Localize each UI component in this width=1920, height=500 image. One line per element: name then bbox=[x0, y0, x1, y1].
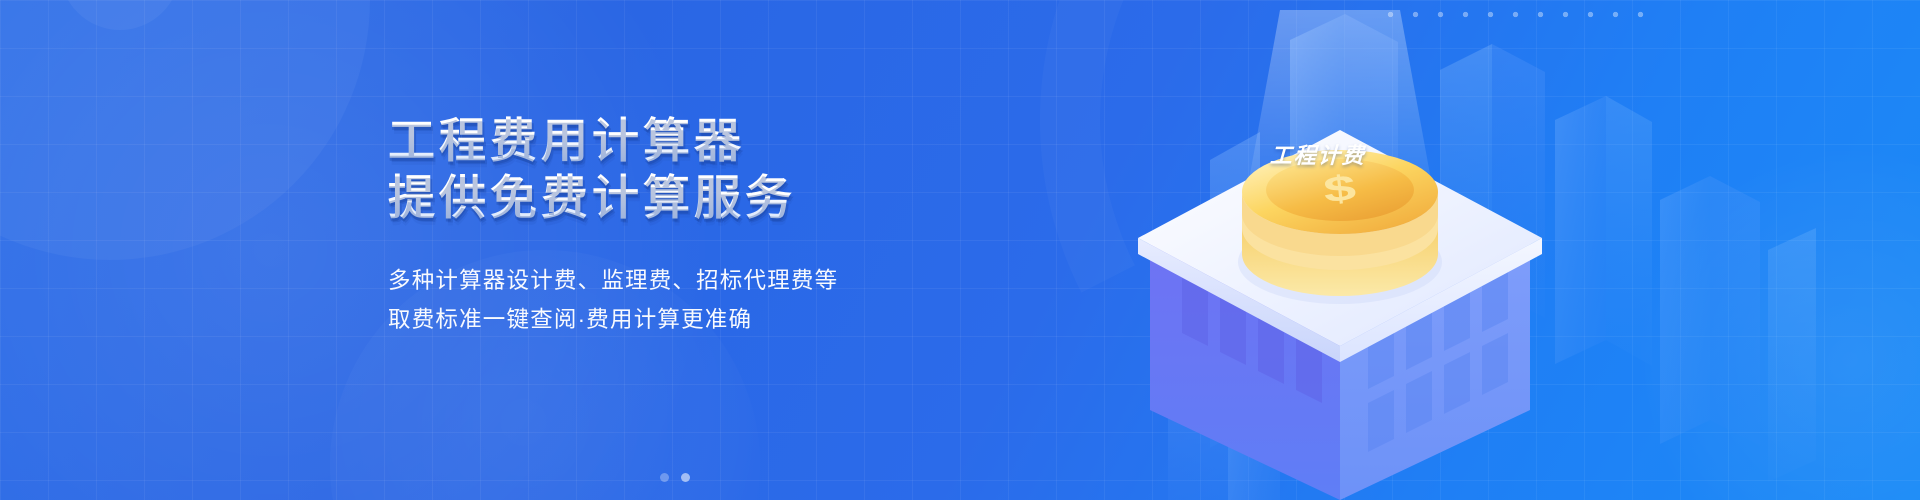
coin-stack: $ bbox=[1238, 150, 1442, 304]
isometric-building-illustration: $ bbox=[1090, 10, 1610, 500]
carousel-indicator[interactable] bbox=[660, 473, 690, 482]
illustration-badge-label: 工程计费 bbox=[1269, 138, 1366, 170]
promo-banner: 工程费用计算器 提供免费计算服务 多种计算器设计费、监理费、招标代理费等 取费标… bbox=[0, 0, 1920, 500]
tower-far-right bbox=[1660, 176, 1816, 482]
banner-copy: 工程费用计算器 提供免费计算服务 多种计算器设计费、监理费、招标代理费等 取费标… bbox=[388, 112, 948, 339]
headline-line-2: 提供免费计算服务 bbox=[388, 169, 948, 226]
carousel-dot-1[interactable] bbox=[660, 473, 669, 482]
subtitle-line-1: 多种计算器设计费、监理费、招标代理费等 bbox=[388, 261, 948, 300]
dollar-symbol: $ bbox=[1322, 167, 1358, 210]
headline-line-1: 工程费用计算器 bbox=[388, 112, 948, 169]
illustration-group: $ 工程计费 bbox=[1090, 10, 1610, 500]
carousel-dot-2[interactable] bbox=[681, 473, 690, 482]
subtitle-line-2: 取费标准一键查阅·费用计算更准确 bbox=[388, 300, 948, 339]
